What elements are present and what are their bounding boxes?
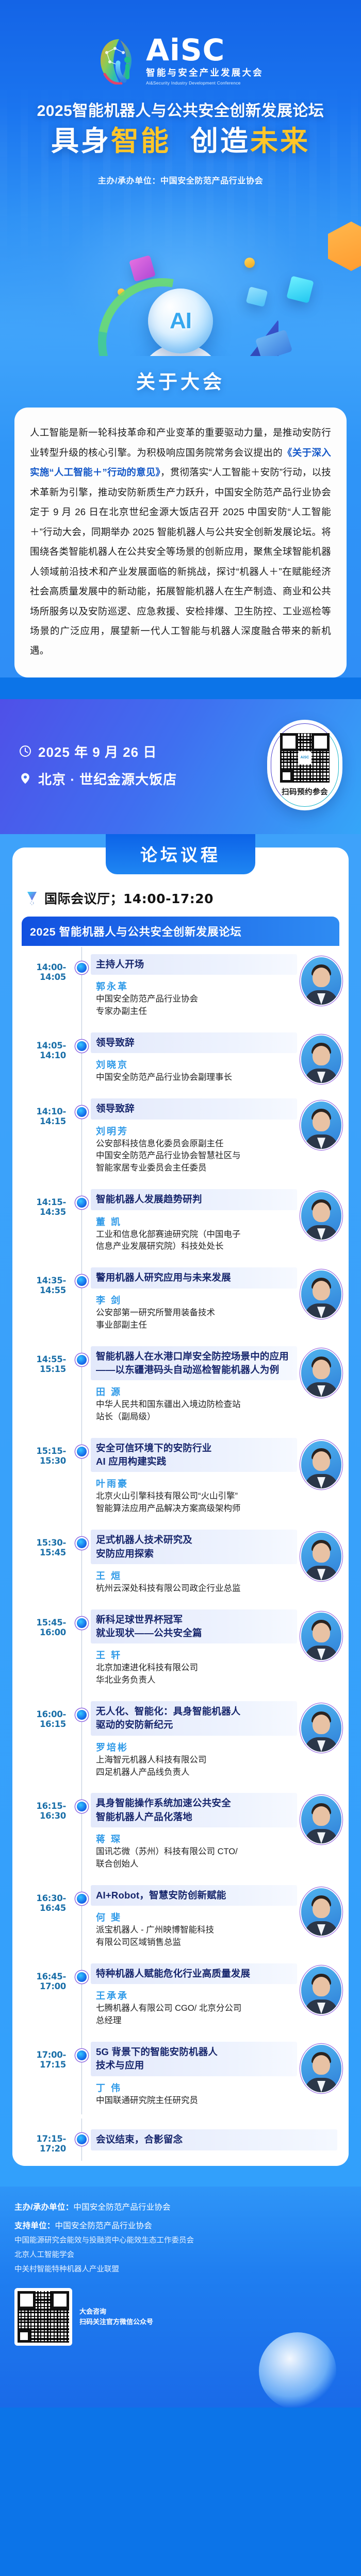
session-time: 16:00-16:15	[12, 1701, 73, 1729]
speaker-avatar	[301, 1796, 341, 1843]
session-row: 16:15-16:30具身智能操作系统加速公共安全 智能机器人产品化落地蒋 琛国…	[12, 1786, 349, 1877]
avatar-head	[313, 1543, 330, 1563]
session-rail	[73, 1438, 91, 1515]
closing-row: 17:15-17:20 会议结束，合影留念	[12, 2117, 349, 2166]
timeline-dot-icon	[77, 1972, 87, 1982]
session-time: 15:30-15:45	[12, 1530, 73, 1557]
timeline-dot-icon	[77, 1618, 87, 1628]
session-speaker: 王 烜	[96, 1569, 297, 1582]
session-title: 警用机器人研究应用与未来发展	[91, 1267, 297, 1288]
aisc-globe-logo-icon	[97, 37, 141, 84]
session-row: 14:35-14:55警用机器人研究应用与未来发展李 剑公安部第一研究所警用装备…	[12, 1260, 349, 1338]
avatar-head	[313, 2055, 330, 2075]
session-rail	[73, 1032, 91, 1084]
session-title: 5G 背景下的智能安防机器人 技术与应用	[91, 2042, 297, 2076]
qr-finder-bottom-left	[18, 2330, 30, 2343]
session-main: 领导致辞刘晓京中国安全防范产品行业协会副理事长	[91, 1032, 301, 1084]
event-details-lines: 2025 年 9 月 26 日 北京 · 世纪金源大饭店	[19, 742, 177, 788]
slogan-part-1: 具身	[51, 126, 111, 157]
session-org: 中国安全防范产品行业协会 专家办副主任	[96, 993, 297, 1018]
session-main: 5G 背景下的智能安防机器人 技术与应用丁 伟中国联通研究院主任研究员	[91, 2042, 301, 2107]
footer-support-line-1: 中国能源研究会能效与投融资中心能效生态工作委员会	[14, 2234, 347, 2248]
speaker-avatar	[301, 1036, 341, 1083]
avatar-head	[313, 1202, 330, 1222]
speaker-avatar	[301, 1101, 341, 1149]
session-title: 无人化、智能化：具身智能机器人 驱动的安防新纪元	[91, 1701, 297, 1736]
session-rail	[73, 2042, 91, 2107]
slogan-part-2: 创造	[190, 126, 250, 157]
logo-chinese-name: 智能与安全产业发展大会	[146, 66, 264, 79]
session-main: AI+Robot，智慧安防创新赋能何 斐派宝机器人 - 广州映博智能科技 有限公…	[91, 1885, 301, 1949]
about-card: 人工智能是新一轮科技革命和产业变革的重要驱动力量，是推动安防行业转型升级的核心引…	[14, 408, 347, 677]
session-row: 17:00-17:155G 背景下的智能安防机器人 技术与应用丁 伟中国联通研究…	[12, 2035, 349, 2114]
session-rail	[73, 1609, 91, 1687]
timeline-dot-icon	[77, 1538, 87, 1548]
session-rail	[73, 1346, 91, 1423]
footer-support-row: 支持单位：中国安全防范产品行业协会	[14, 2218, 347, 2234]
session-org: 工业和信息化部赛迪研究院（中国电子 信息产业发展研究院）科技处处长	[96, 1229, 297, 1253]
session-time: 17:00-17:15	[12, 2042, 73, 2070]
session-main: 特种机器人赋能危化行业高质量发展王承承七腾机器人有限公司 CGO/ 北京分公司 …	[91, 1963, 301, 2027]
footer-decor	[14, 2346, 347, 2408]
hall-row: 国际会议厅；14:00-17:20	[12, 886, 349, 917]
footer-support-key: 支持单位：	[14, 2222, 55, 2230]
session-org: 国讯芯微（苏州）科技有限公司 CTO/ 联合创始人	[96, 1846, 297, 1871]
hall-text: 国际会议厅；14:00-17:20	[44, 889, 214, 907]
timeline-dot-icon	[77, 2134, 87, 2144]
session-row: 16:00-16:15无人化、智能化：具身智能机器人 驱动的安防新纪元罗培彬上海…	[12, 1694, 349, 1786]
session-speaker: 何 斐	[96, 1910, 297, 1924]
session-rail	[73, 1885, 91, 1949]
timeline-dot-icon	[77, 1894, 87, 1904]
logo-wordmark: AiSC	[146, 36, 264, 64]
avatar-head	[313, 1715, 330, 1734]
session-time: 14:00-14:05	[12, 954, 73, 982]
session-title: 足式机器人技术研究及 安防应用探索	[91, 1530, 297, 1564]
session-speaker: 丁 伟	[96, 2081, 297, 2094]
session-row: 14:55-15:15智能机器人在水港口岸安全防控场景中的应用 ——以东疆港码头…	[12, 1339, 349, 1431]
agenda-tab-label: 论坛议程	[106, 834, 255, 874]
session-speaker: 罗培彬	[96, 1740, 297, 1754]
session-time: 14:35-14:55	[12, 1267, 73, 1295]
registration-qr-code[interactable]: AiSC	[280, 733, 330, 783]
session-speaker: 李 剑	[96, 1293, 297, 1307]
session-list: 14:00-14:05主持人开场郭永革中国安全防范产品行业协会 专家办副主任14…	[12, 946, 349, 2117]
session-row: 16:45-17:00特种机器人赋能危化行业高质量发展王承承七腾机器人有限公司 …	[12, 1956, 349, 2035]
session-rail	[73, 1098, 91, 1175]
footer-host-key: 主办/承办单位：	[14, 2203, 73, 2212]
session-title: 智能机器人发展趋势研判	[91, 1189, 297, 1210]
session-org: 中华人民共和国东疆出入境边防检查站 站长（副局级）	[96, 1399, 297, 1423]
slogan-highlight-2: 未来	[250, 126, 310, 157]
session-org: 北京火山引擎科技有限公司“火山引擎” 智能算法应用产品解决方案高级架构师	[96, 1490, 297, 1515]
session-title: 新科足球世界杯冠军 就业现状——公共安全篇	[91, 1609, 297, 1644]
session-row: 14:15-14:35智能机器人发展趋势研判董 凯工业和信息化部赛迪研究院（中国…	[12, 1182, 349, 1260]
session-title: 特种机器人赋能危化行业高质量发展	[91, 1963, 297, 1984]
footer-support-line-3: 中关村智能特种机器人产业联盟	[14, 2263, 347, 2277]
session-speaker: 刘明芳	[96, 1124, 297, 1138]
footer-section: 主办/承办单位：中国安全防范产品行业协会 支持单位：中国安全防范产品行业协会 中…	[0, 2187, 361, 2408]
session-time: 14:55-15:15	[12, 1346, 73, 1374]
timeline-dot-icon	[77, 1276, 87, 1286]
footer-host-value: 中国安全防范产品行业协会	[73, 2203, 170, 2212]
avatar-head	[313, 1806, 330, 1826]
map-pin-icon	[19, 772, 32, 785]
session-time: 15:15-15:30	[12, 1438, 73, 1466]
session-speaker: 刘晓京	[96, 1058, 297, 1071]
about-text-post: ，贯彻落实“人工智能＋安防”行动，以技术革新为引擎，推动安防新质生产力跃升，中国…	[30, 467, 331, 656]
session-speaker: 董 凯	[96, 1215, 297, 1228]
timeline-dot-icon	[77, 1107, 87, 1117]
agenda-section: 论坛议程 国际会议厅；14:00-17:20 2025 智能机器人与公共安全创新…	[0, 834, 361, 2187]
event-details-section: 2025 年 9 月 26 日 北京 · 世纪金源大饭店 AiSC 扫码预约参会	[0, 699, 361, 834]
session-title: 具身智能操作系统加速公共安全 智能机器人产品化落地	[91, 1793, 297, 1827]
avatar-head	[313, 1360, 330, 1379]
session-time: 16:15-16:30	[12, 1793, 73, 1821]
session-time: 14:15-14:35	[12, 1189, 73, 1217]
location-marker-icon	[26, 891, 38, 905]
session-speaker: 郭永革	[96, 979, 297, 993]
qr-center-logo: AiSC	[298, 751, 311, 765]
session-title: 领导致辞	[91, 1032, 297, 1053]
timeline-dot-icon	[77, 1710, 87, 1720]
session-title: 安全可信环境下的安防行业 AI 应用构建实践	[91, 1438, 297, 1472]
speaker-avatar	[301, 1888, 341, 1936]
footer-robot-glow	[259, 2332, 336, 2408]
session-row: 14:00-14:05主持人开场郭永革中国安全防范产品行业协会 专家办副主任	[12, 947, 349, 1025]
footer-host-row: 主办/承办单位：中国安全防范产品行业协会	[14, 2200, 347, 2215]
session-row: 14:10-14:15领导致辞刘明芳公安部科技信息化委员会原副主任 中国安全防范…	[12, 1091, 349, 1182]
event-location: 北京 · 世纪金源大饭店	[38, 769, 177, 788]
event-location-row: 北京 · 世纪金源大饭店	[19, 769, 177, 788]
session-main: 无人化、智能化：具身智能机器人 驱动的安防新纪元罗培彬上海智元机器人科技有限公司…	[91, 1701, 301, 1778]
footer-qr-code[interactable]	[14, 2288, 72, 2346]
session-main: 安全可信环境下的安防行业 AI 应用构建实践叶雨豪北京火山引擎科技有限公司“火山…	[91, 1438, 301, 1515]
ai-robot-illustration	[129, 289, 232, 356]
speaker-avatar	[301, 1613, 341, 1660]
agenda-card: 国际会议厅；14:00-17:20 2025 智能机器人与公共安全创新发展论坛 …	[12, 848, 349, 2166]
session-title: 主持人开场	[91, 954, 297, 975]
session-time: 14:05-14:10	[12, 1032, 73, 1060]
timeline-dot-icon	[77, 1802, 87, 1811]
session-rail	[73, 1530, 91, 1595]
speaker-avatar	[301, 1967, 341, 2014]
event-date: 2025 年 9 月 26 日	[38, 742, 157, 761]
session-rail	[73, 954, 91, 1018]
speaker-avatar	[301, 1704, 341, 1752]
about-section: 关于大会 人工智能是新一轮科技革命和产业变革的重要驱动力量，是推动安防行业转型升…	[0, 356, 361, 677]
session-speaker: 王 轩	[96, 1648, 297, 1662]
conference-poster: AiSC 智能与安全产业发展大会 Ai&Security Industry De…	[0, 0, 361, 2408]
speaker-avatar	[301, 2045, 341, 2092]
aisc-logo: AiSC 智能与安全产业发展大会 Ai&Security Industry De…	[0, 36, 361, 86]
session-org: 中国安全防范产品行业协会副理事长	[96, 1072, 297, 1084]
avatar-head	[313, 1281, 330, 1300]
session-speaker: 蒋 琛	[96, 1832, 297, 1845]
footer-qr-image[interactable]	[18, 2291, 69, 2343]
registration-qr-badge[interactable]: AiSC 扫码预约参会	[267, 720, 342, 810]
timeline-dot-icon	[77, 963, 87, 973]
session-main: 智能机器人发展趋势研判董 凯工业和信息化部赛迪研究院（中国电子 信息产业发展研究…	[91, 1189, 301, 1253]
session-org: 北京加速进化科技有限公司 华北业务负责人	[96, 1662, 297, 1687]
avatar-head	[313, 1046, 330, 1065]
session-main: 具身智能操作系统加速公共安全 智能机器人产品化落地蒋 琛国讯芯微（苏州）科技有限…	[91, 1793, 301, 1870]
closing-time: 17:15-17:20	[12, 2126, 73, 2154]
session-time: 14:10-14:15	[12, 1098, 73, 1126]
qr-caption: 扫码预约参会	[282, 786, 328, 797]
speaker-avatar	[301, 1192, 341, 1240]
session-rail	[73, 1267, 91, 1331]
session-time: 16:45-17:00	[12, 1963, 73, 1991]
timeline-dot-icon	[77, 2050, 87, 2060]
session-rail	[73, 1963, 91, 2027]
avatar-head	[313, 1977, 330, 1996]
session-org: 派宝机器人 - 广州映博智能科技 有限公司区域销售总监	[96, 1924, 297, 1949]
footer-qr-caption: 大会咨询 扫码关注官方微信公众号	[79, 2307, 153, 2328]
qr-finder-bottom-left	[280, 770, 293, 783]
session-row: 14:05-14:10领导致辞刘晓京中国安全防范产品行业协会副理事长	[12, 1025, 349, 1091]
session-speaker: 叶雨豪	[96, 1477, 297, 1490]
session-org: 中国联通研究院主任研究员	[96, 2095, 297, 2107]
session-title: 智能机器人在水港口岸安全防控场景中的应用 ——以东疆港码头自动巡检智能机器人为例	[91, 1346, 297, 1381]
about-heading: 关于大会	[0, 359, 361, 408]
avatar-head	[313, 1623, 330, 1642]
session-org: 七腾机器人有限公司 CGO/ 北京分公司 总经理	[96, 2003, 297, 2027]
coin-decor-a	[244, 258, 255, 268]
session-rail	[73, 1701, 91, 1778]
session-title: AI+Robot，智慧安防创新赋能	[91, 1885, 297, 1906]
slogan-highlight-1: 智能	[111, 126, 171, 157]
avatar-head	[313, 1112, 330, 1131]
hero-host-line: 主办/承办单位：中国安全防范产品行业协会	[0, 174, 361, 186]
speaker-avatar	[301, 1349, 341, 1397]
avatar-head	[313, 1451, 330, 1471]
footer-support-value: 中国安全防范产品行业协会	[55, 2222, 152, 2230]
timeline-dot-icon	[77, 1447, 87, 1456]
event-date-row: 2025 年 9 月 26 日	[19, 742, 177, 761]
session-row: 15:15-15:30安全可信环境下的安防行业 AI 应用构建实践叶雨豪北京火山…	[12, 1431, 349, 1522]
session-row: 15:45-16:00新科足球世界杯冠军 就业现状——公共安全篇王 轩北京加速进…	[12, 1602, 349, 1694]
clock-icon	[19, 744, 32, 758]
closing-rail	[73, 2126, 91, 2154]
session-rail	[73, 1189, 91, 1253]
hero-slogan: 具身智能 创造未来	[0, 127, 361, 156]
hero-title: 2025智能机器人与公共安全创新发展论坛	[0, 98, 361, 121]
logo-english-name: Ai&Security Industry Development Confere…	[146, 80, 264, 86]
session-org: 公安部科技信息化委员会原副主任 中国安全防范产品行业协会智慧社区与 智能家居专业…	[96, 1138, 297, 1175]
session-title: 领导致辞	[91, 1098, 297, 1119]
session-time: 16:30-16:45	[12, 1885, 73, 1913]
speaker-avatar	[301, 1533, 341, 1580]
timeline-dot-icon	[77, 1355, 87, 1365]
session-main: 新科足球世界杯冠军 就业现状——公共安全篇王 轩北京加速进化科技有限公司 华北业…	[91, 1609, 301, 1687]
session-main: 足式机器人技术研究及 安防应用探索王 烜杭州云深处科技有限公司政企行业总监	[91, 1530, 301, 1595]
session-speaker: 田 源	[96, 1385, 297, 1398]
session-row: 15:30-15:45足式机器人技术研究及 安防应用探索王 烜杭州云深处科技有限…	[12, 1522, 349, 1602]
timeline-dot-icon	[77, 1041, 87, 1051]
robot-head-ai-orb	[148, 289, 213, 353]
session-row: 16:30-16:45AI+Robot，智慧安防创新赋能何 斐派宝机器人 - 广…	[12, 1878, 349, 1956]
session-org: 公安部第一研究所警用装备技术 事业部副主任	[96, 1307, 297, 1332]
session-main: 警用机器人研究应用与未来发展李 剑公安部第一研究所警用装备技术 事业部副主任	[91, 1267, 301, 1331]
session-speaker: 王承承	[96, 1989, 297, 2002]
speaker-avatar	[301, 957, 341, 1005]
avatar-head	[313, 1899, 330, 1918]
closing-title: 会议结束，合影留念	[91, 2129, 337, 2150]
session-org: 上海智元机器人科技有限公司 四足机器人产品线负责人	[96, 1754, 297, 1779]
speaker-avatar	[301, 1270, 341, 1318]
hero-section: AiSC 智能与安全产业发展大会 Ai&Security Industry De…	[0, 0, 361, 356]
session-time: 15:45-16:00	[12, 1609, 73, 1637]
session-rail	[73, 1793, 91, 1870]
avatar-head	[313, 968, 330, 987]
session-main: 领导致辞刘明芳公安部科技信息化委员会原副主任 中国安全防范产品行业协会智慧社区与…	[91, 1098, 301, 1175]
about-paragraph: 人工智能是新一轮科技革命和产业变革的重要驱动力量，是推动安防行业转型升级的核心引…	[30, 423, 331, 661]
session-main: 智能机器人在水港口岸安全防控场景中的应用 ——以东疆港码头自动巡检智能机器人为例…	[91, 1346, 301, 1423]
session-main: 主持人开场郭永革中国安全防范产品行业协会 专家办副主任	[91, 954, 301, 1018]
footer-support-line-2: 北京人工智能学会	[14, 2248, 347, 2263]
timeline-dot-icon	[77, 1198, 87, 1208]
forum-title-bar: 2025 智能机器人与公共安全创新发展论坛	[22, 917, 339, 946]
session-org: 杭州云深处科技有限公司政企行业总监	[96, 1583, 297, 1595]
speaker-avatar	[301, 1441, 341, 1488]
